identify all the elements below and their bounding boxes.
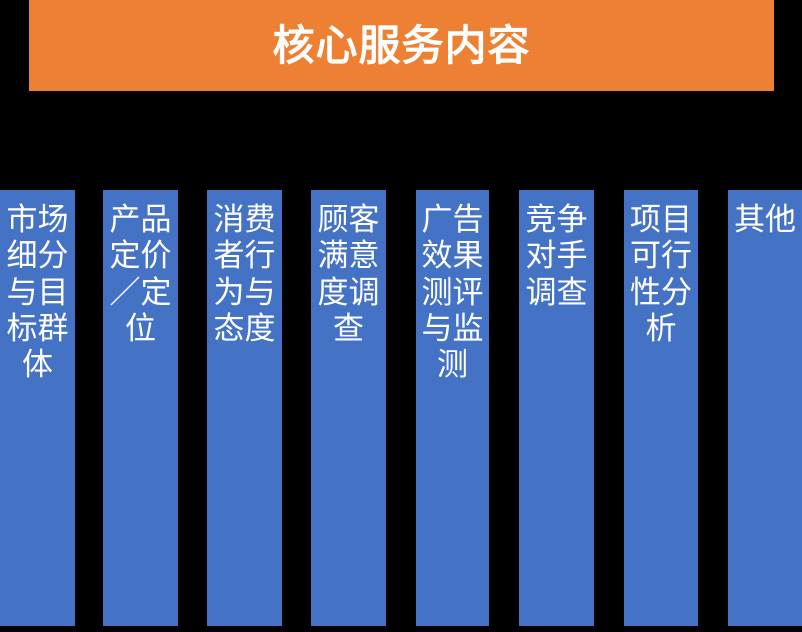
service-column-label: 其他	[728, 190, 802, 238]
service-column-6[interactable]: 竞争对手调查	[519, 190, 594, 626]
service-column-label: 产品定价／定位	[103, 190, 178, 347]
service-columns-group: 市场细分与目标群体 产品定价／定位 消费者行为与态度 顾客满意度调查 广告效果测…	[0, 190, 802, 626]
title-banner: 核心服务内容	[29, 0, 774, 91]
service-column-label: 广告效果测评与监测	[416, 190, 489, 383]
service-column-label: 顾客满意度调查	[311, 190, 386, 347]
service-column-4[interactable]: 顾客满意度调查	[311, 190, 386, 626]
service-column-label: 项目可行性分析	[624, 190, 698, 347]
service-column-label: 消费者行为与态度	[207, 190, 282, 347]
service-column-2[interactable]: 产品定价／定位	[103, 190, 178, 626]
service-column-label: 市场细分与目标群体	[0, 190, 75, 383]
page-title: 核心服务内容	[272, 25, 530, 67]
service-column-7[interactable]: 项目可行性分析	[624, 190, 698, 626]
service-column-8[interactable]: 其他	[728, 190, 802, 626]
slide-canvas: 核心服务内容 市场细分与目标群体 产品定价／定位 消费者行为与态度 顾客满意度调…	[0, 0, 802, 632]
service-column-3[interactable]: 消费者行为与态度	[207, 190, 282, 626]
service-column-1[interactable]: 市场细分与目标群体	[0, 190, 75, 626]
service-column-5[interactable]: 广告效果测评与监测	[416, 190, 489, 626]
service-column-label: 竞争对手调查	[519, 190, 594, 311]
